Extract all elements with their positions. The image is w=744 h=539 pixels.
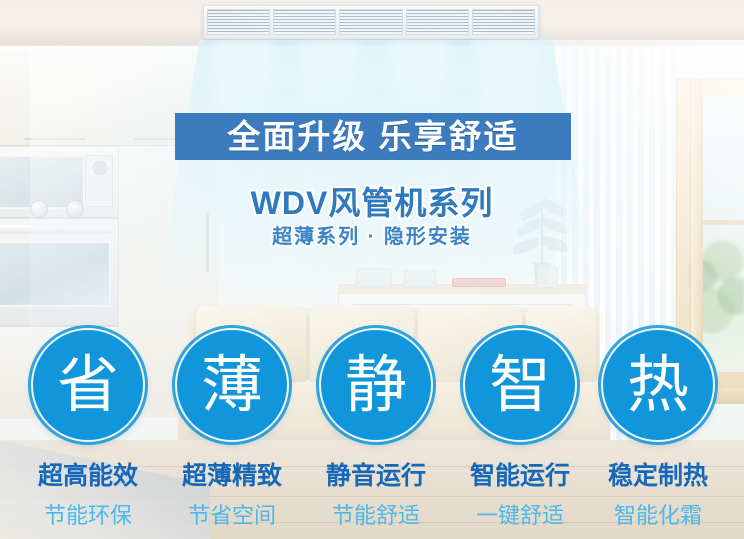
- cabinet-handle: [24, 138, 86, 140]
- feature-circle-slim: 薄: [175, 328, 289, 442]
- feature-title: 超薄精致: [160, 456, 304, 492]
- vent-cell: [339, 9, 402, 35]
- feature-item-heating: 热 稳定制热 智能化霜: [586, 328, 730, 530]
- console-decor-tray: [404, 270, 436, 288]
- feature-char: 热: [627, 354, 689, 416]
- feature-char: 省: [57, 354, 119, 416]
- vent-shadow: [206, 40, 534, 46]
- product-series-title: WDV风管机系列: [0, 178, 744, 224]
- feature-char: 静: [345, 354, 407, 416]
- feature-subtitle: 一键舒适: [448, 498, 592, 530]
- feature-circle-smart: 智: [463, 328, 577, 442]
- console-decor-vase: [536, 266, 558, 288]
- feature-subtitle: 智能化霜: [586, 498, 730, 530]
- vent-cell: [273, 9, 336, 35]
- feature-circle-energy: 省: [31, 328, 145, 442]
- duct-vent-grille: [207, 9, 535, 35]
- vent-cell: [406, 9, 469, 35]
- feature-item-quiet: 静 静音运行 节能舒适: [304, 328, 448, 530]
- microwave-knob: [93, 161, 107, 175]
- feature-title: 稳定制热: [586, 456, 730, 492]
- feature-list: 省 超高能效 节能环保 薄 超薄精致 节省空间 静 静音运行 节能舒适 智 智能…: [0, 328, 744, 539]
- feature-subtitle: 节省空间: [160, 498, 304, 530]
- feature-char: 智: [489, 354, 551, 416]
- feature-circle-quiet: 静: [319, 328, 433, 442]
- feature-subtitle: 节能舒适: [304, 498, 448, 530]
- feature-title: 超高能效: [16, 456, 160, 492]
- feature-char: 薄: [201, 354, 263, 416]
- feature-title: 智能运行: [448, 456, 592, 492]
- upper-cabinet-left: [0, 50, 113, 146]
- console-decor-frame: [356, 268, 392, 288]
- product-poster: 全面升级 乐享舒适 WDV风管机系列 超薄系列 · 隐形安装 省 超高能效 节能…: [0, 0, 744, 539]
- oven-glass-door: [0, 241, 111, 307]
- feature-circle-heating: 热: [601, 328, 715, 442]
- headline-text: 全面升级 乐享舒适: [227, 120, 518, 153]
- feature-subtitle: 节能环保: [16, 498, 160, 530]
- feature-title: 静音运行: [304, 456, 448, 492]
- feature-item-slim: 薄 超薄精致 节省空间: [160, 328, 304, 530]
- vent-cell: [472, 9, 535, 35]
- console-decor-book: [452, 278, 506, 287]
- product-series-tagline: 超薄系列 · 隐形安装: [0, 220, 744, 249]
- feature-item-smart: 智 智能运行 一键舒适: [448, 328, 592, 530]
- headline-banner: 全面升级 乐享舒适: [175, 113, 571, 160]
- duct-vent-housing: [203, 5, 539, 39]
- feature-item-energy: 省 超高能效 节能环保: [16, 328, 160, 530]
- vent-cell: [207, 9, 270, 35]
